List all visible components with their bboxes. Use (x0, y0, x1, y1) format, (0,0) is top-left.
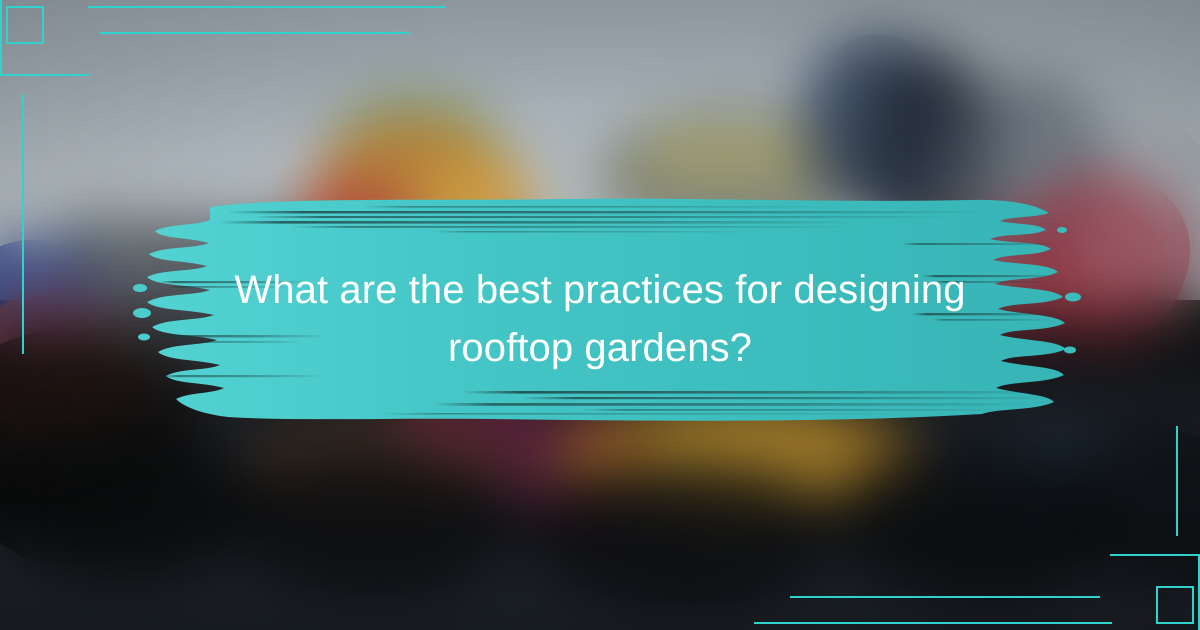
corner-long-bar-icon (754, 622, 1112, 624)
corner-long-bar-icon (88, 6, 446, 8)
corner-elbow-icon (0, 0, 90, 76)
corner-elbow-icon (1110, 554, 1200, 630)
corner-vertical-bar-icon (1176, 426, 1178, 536)
corner-short-bar-icon (790, 596, 1100, 598)
top-left-corner-ornament (0, 0, 200, 120)
corner-vertical-bar-icon (22, 94, 24, 354)
question-card: What are the best practices for designin… (0, 0, 1200, 630)
corner-short-bar-icon (100, 32, 410, 34)
question-headline: What are the best practices for designin… (180, 262, 1020, 377)
bottom-right-corner-ornament (1000, 510, 1200, 630)
